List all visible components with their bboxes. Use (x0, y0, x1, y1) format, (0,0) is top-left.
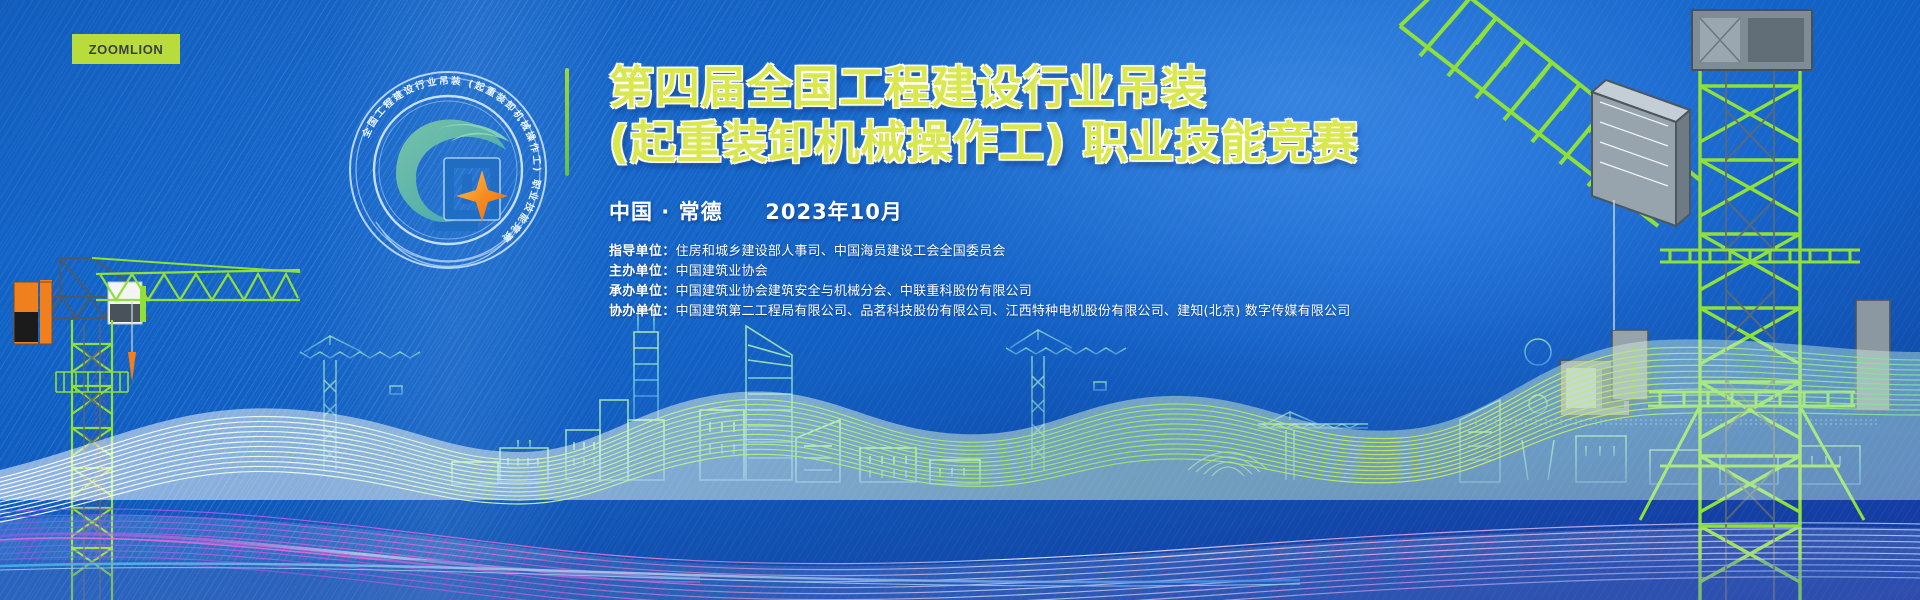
organization-value: 中国建筑第二工程局有限公司、品茗科技股份有限公司、江西特种电机股份有限公司、建知… (676, 302, 1351, 322)
banner-text-block: 第四届全国工程建设行业吊装 (起重装卸机械操作工) 职业技能竞赛 中国 · 常德… (565, 60, 1515, 322)
event-location: 中国 · 常德 (609, 200, 723, 224)
organization-label: 指导单位： (609, 242, 676, 262)
organization-label: 承办单位： (609, 282, 676, 302)
event-meta: 中国 · 常德 2023年10月 (565, 196, 1515, 226)
meta-line: 中国 · 常德 2023年10月 (609, 196, 1515, 226)
organization-row: 协办单位： 中国建筑第二工程局有限公司、品茗科技股份有限公司、江西特种电机股份有… (609, 302, 1515, 322)
organization-label: 协办单位： (609, 302, 676, 322)
green-accent-bar (565, 68, 569, 176)
zoomlion-logo: ZOOMLION (72, 34, 180, 64)
competition-emblem: 全国工程建设行业吊装 (起重装卸机械操作工) 职业技能竞赛 (340, 62, 556, 278)
organization-list: 指导单位： 住房和城乡建设部人事司、中国海员建设工会全国委员会 主办单位： 中国… (565, 242, 1515, 322)
organization-label: 主办单位： (609, 262, 676, 282)
zoomlion-logo-text: ZOOMLION (89, 42, 164, 57)
organization-row: 承办单位： 中国建筑业协会建筑安全与机械分会、中联重科股份有限公司 (609, 282, 1515, 302)
organization-value: 中国建筑业协会 (676, 262, 768, 282)
title-line-1: 第四届全国工程建设行业吊装 (609, 60, 1515, 115)
organization-value: 中国建筑业协会建筑安全与机械分会、中联重科股份有限公司 (676, 282, 1032, 302)
title-line-2: (起重装卸机械操作工) 职业技能竞赛 (609, 115, 1515, 170)
event-banner: 全国工程建设行业吊装 (起重装卸机械操作工) 职业技能竞赛 第四届全国工 (0, 0, 1920, 600)
organization-row: 指导单位： 住房和城乡建设部人事司、中国海员建设工会全国委员会 (609, 242, 1515, 262)
title-group: 第四届全国工程建设行业吊装 (起重装卸机械操作工) 职业技能竞赛 (565, 60, 1515, 170)
organization-row: 主办单位： 中国建筑业协会 (609, 262, 1515, 282)
event-date: 2023年10月 (765, 200, 903, 224)
organization-value: 住房和城乡建设部人事司、中国海员建设工会全国委员会 (676, 242, 1006, 262)
